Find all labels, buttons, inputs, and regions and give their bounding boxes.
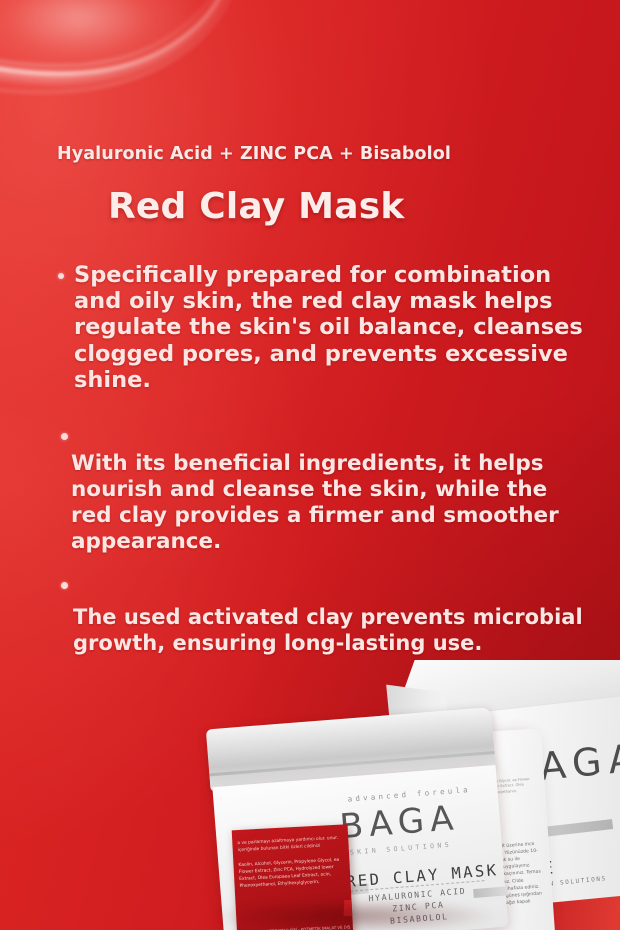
jar-brand-logo: BAGA — [338, 798, 460, 847]
bullet-dot-icon — [61, 433, 68, 440]
swoosh-glow — [0, 0, 270, 90]
swoosh-svg — [0, 0, 380, 150]
bullet-dot-icon — [58, 273, 64, 279]
product-drop-shadow — [190, 896, 520, 930]
product-photo: a BAGA RE SKIN SOLUTIONS Kaolin, Alcohol… — [0, 660, 620, 930]
poster-canvas: Hyaluronic Acid + ZINC PCA + Bisabolol R… — [0, 0, 620, 930]
bullet-dot-icon — [61, 582, 68, 589]
jar-label-ingredient-text: Kaolin, Alcohol, Glycerin, Propylene Gly… — [238, 856, 351, 890]
ingredient-eyebrow: Hyaluronic Acid + ZINC PCA + Bisabolol — [57, 144, 577, 164]
light-swoosh-graphic — [0, 0, 380, 150]
bullet-text: With its beneficial ingredients, it help… — [71, 451, 581, 555]
page-title: Red Clay Mask — [108, 186, 620, 227]
bullet-text: The used activated clay prevents microbi… — [73, 605, 583, 657]
jar-label-intro-text: a ve parlamayı azaltmaya yardımcı olur. … — [237, 834, 350, 854]
bullet-text: Specifically prepared for combination an… — [74, 262, 590, 393]
